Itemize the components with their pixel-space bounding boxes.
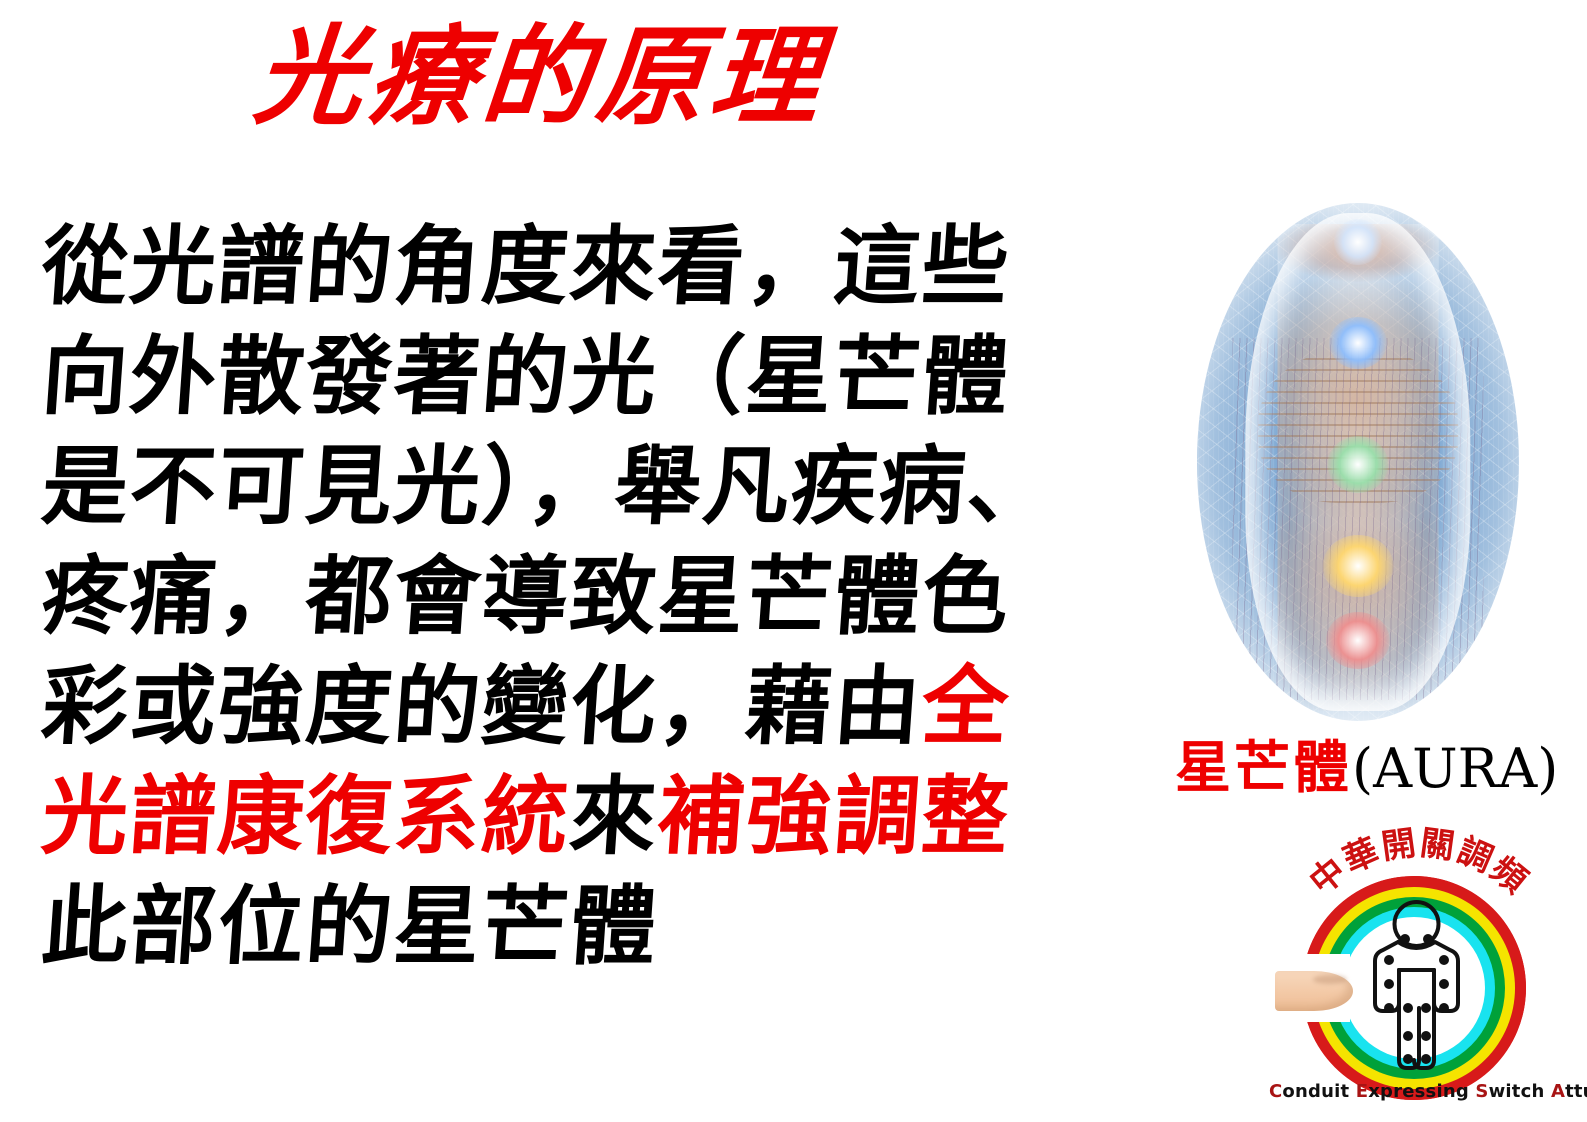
logo-tagline: Conduit Expressing Switch Attune	[1269, 1081, 1569, 1102]
chakra-crown-glow	[1334, 219, 1382, 266]
chakra-solar-glow	[1323, 535, 1394, 597]
body-line-1-segment-1: 從光譜的角度來看，這些	[39, 216, 1014, 317]
aura-caption: 星芒體(AURA)	[1175, 740, 1575, 797]
body-line-3: 是不可見光），舉凡疾病、	[38, 432, 1126, 542]
tagline-rest-switch: witch	[1489, 1081, 1545, 1102]
body-line-5-segment-2-highlight: 全	[919, 656, 1014, 757]
body-line-6: 光譜康復系統來補強調整	[38, 762, 1126, 872]
tagline-cap-s: S	[1475, 1081, 1488, 1102]
body-line-5: 彩或強度的變化，藉由全	[38, 652, 1126, 762]
logo-arc-textpath: 中華開關調頻	[1302, 823, 1535, 903]
tagline-rest-conduit: onduit	[1282, 1081, 1349, 1102]
tagline-cap-e: E	[1356, 1081, 1369, 1102]
body-line-6-segment-3-highlight: 補強調整	[655, 766, 1014, 867]
body-line-7-segment-1: 此部位的星芒體	[39, 876, 662, 977]
body-line-6-segment-1-highlight: 光譜康復系統	[39, 766, 574, 867]
body-line-7: 此部位的星芒體	[38, 872, 1126, 982]
aura-oval-background	[1197, 203, 1519, 721]
tagline-rest-attune: ttune	[1565, 1081, 1587, 1102]
tagline-cap-a: A	[1551, 1081, 1565, 1102]
pointing-finger-icon	[1275, 971, 1353, 1011]
chakra-throat-glow	[1329, 317, 1387, 369]
brand-logo: 中華開關調頻 Conduit E	[1269, 843, 1569, 1115]
chakra-heart-glow	[1327, 436, 1388, 493]
body-line-2-segment-1: 向外散發著的光（星芒體	[39, 326, 1014, 427]
aura-caption-english: (AURA)	[1352, 737, 1558, 800]
body-line-1: 從光譜的角度來看，這些	[38, 212, 1126, 322]
body-line-3-segment-1: 是不可見光），舉凡疾病、	[39, 436, 1059, 537]
aura-image	[1197, 203, 1519, 721]
body-text-block: 從光譜的角度來看，這些 向外散發著的光（星芒體 是不可見光），舉凡疾病、 疼痛，…	[42, 212, 1122, 982]
logo-arc-text-label: 中華開關調頻	[1302, 823, 1535, 903]
body-line-4-segment-1: 疼痛，都會導致星芒體色	[39, 546, 1014, 647]
aura-caption-chinese: 星芒體	[1175, 735, 1352, 801]
body-line-5-segment-1: 彩或強度的變化，藉由	[39, 656, 926, 757]
body-line-2: 向外散發著的光（星芒體	[38, 322, 1126, 432]
body-line-6-segment-2: 來	[567, 766, 662, 867]
tagline-cap-c: C	[1269, 1081, 1282, 1102]
chakra-sacral-glow	[1326, 612, 1390, 669]
page-title: 光療的原理	[250, 18, 940, 137]
tagline-rest-expressing: xpressing	[1368, 1081, 1469, 1102]
person-acupoints-icon	[1364, 898, 1469, 1078]
body-line-4: 疼痛，都會導致星芒體色	[38, 542, 1126, 652]
